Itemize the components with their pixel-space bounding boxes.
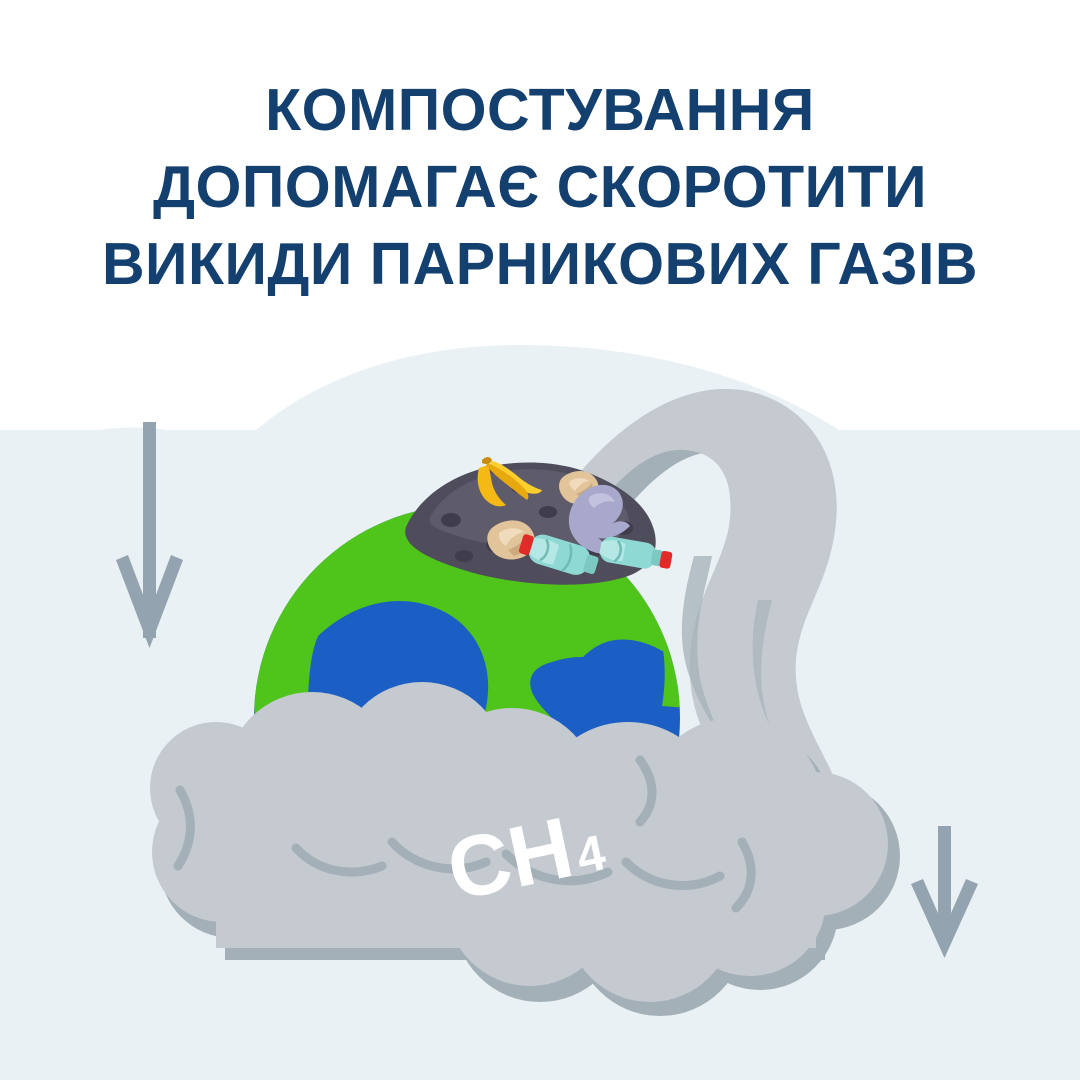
smoke-cloud-layer: CH 4 [0, 0, 1080, 1080]
poster-canvas: CH 4 КОМПОСТУВАННЯ ДОПОМАГАЄ СКОРОТИТИ В… [0, 0, 1080, 1080]
